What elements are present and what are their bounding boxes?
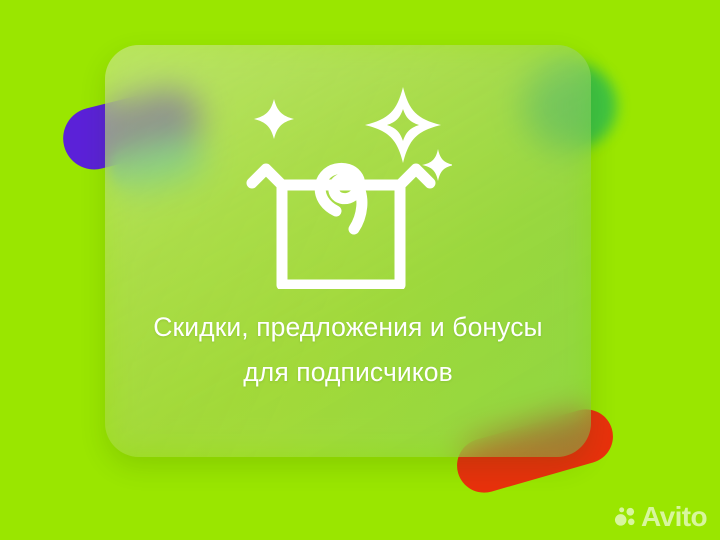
avito-wordmark: Avito (641, 503, 707, 531)
gift-box-sparkles-icon (244, 77, 452, 289)
avito-logo: Avito (614, 503, 707, 531)
headline: Скидки, предложения и бонусы для подписч… (133, 305, 563, 395)
card-content: Скидки, предложения и бонусы для подписч… (105, 45, 591, 457)
promo-glass-card: Скидки, предложения и бонусы для подписч… (105, 45, 591, 457)
headline-line-1: Скидки, предложения и бонусы (133, 305, 563, 350)
promo-banner: Скидки, предложения и бонусы для подписч… (0, 0, 720, 540)
headline-line-2: для подписчиков (133, 350, 563, 395)
avito-dots-icon (614, 506, 637, 529)
